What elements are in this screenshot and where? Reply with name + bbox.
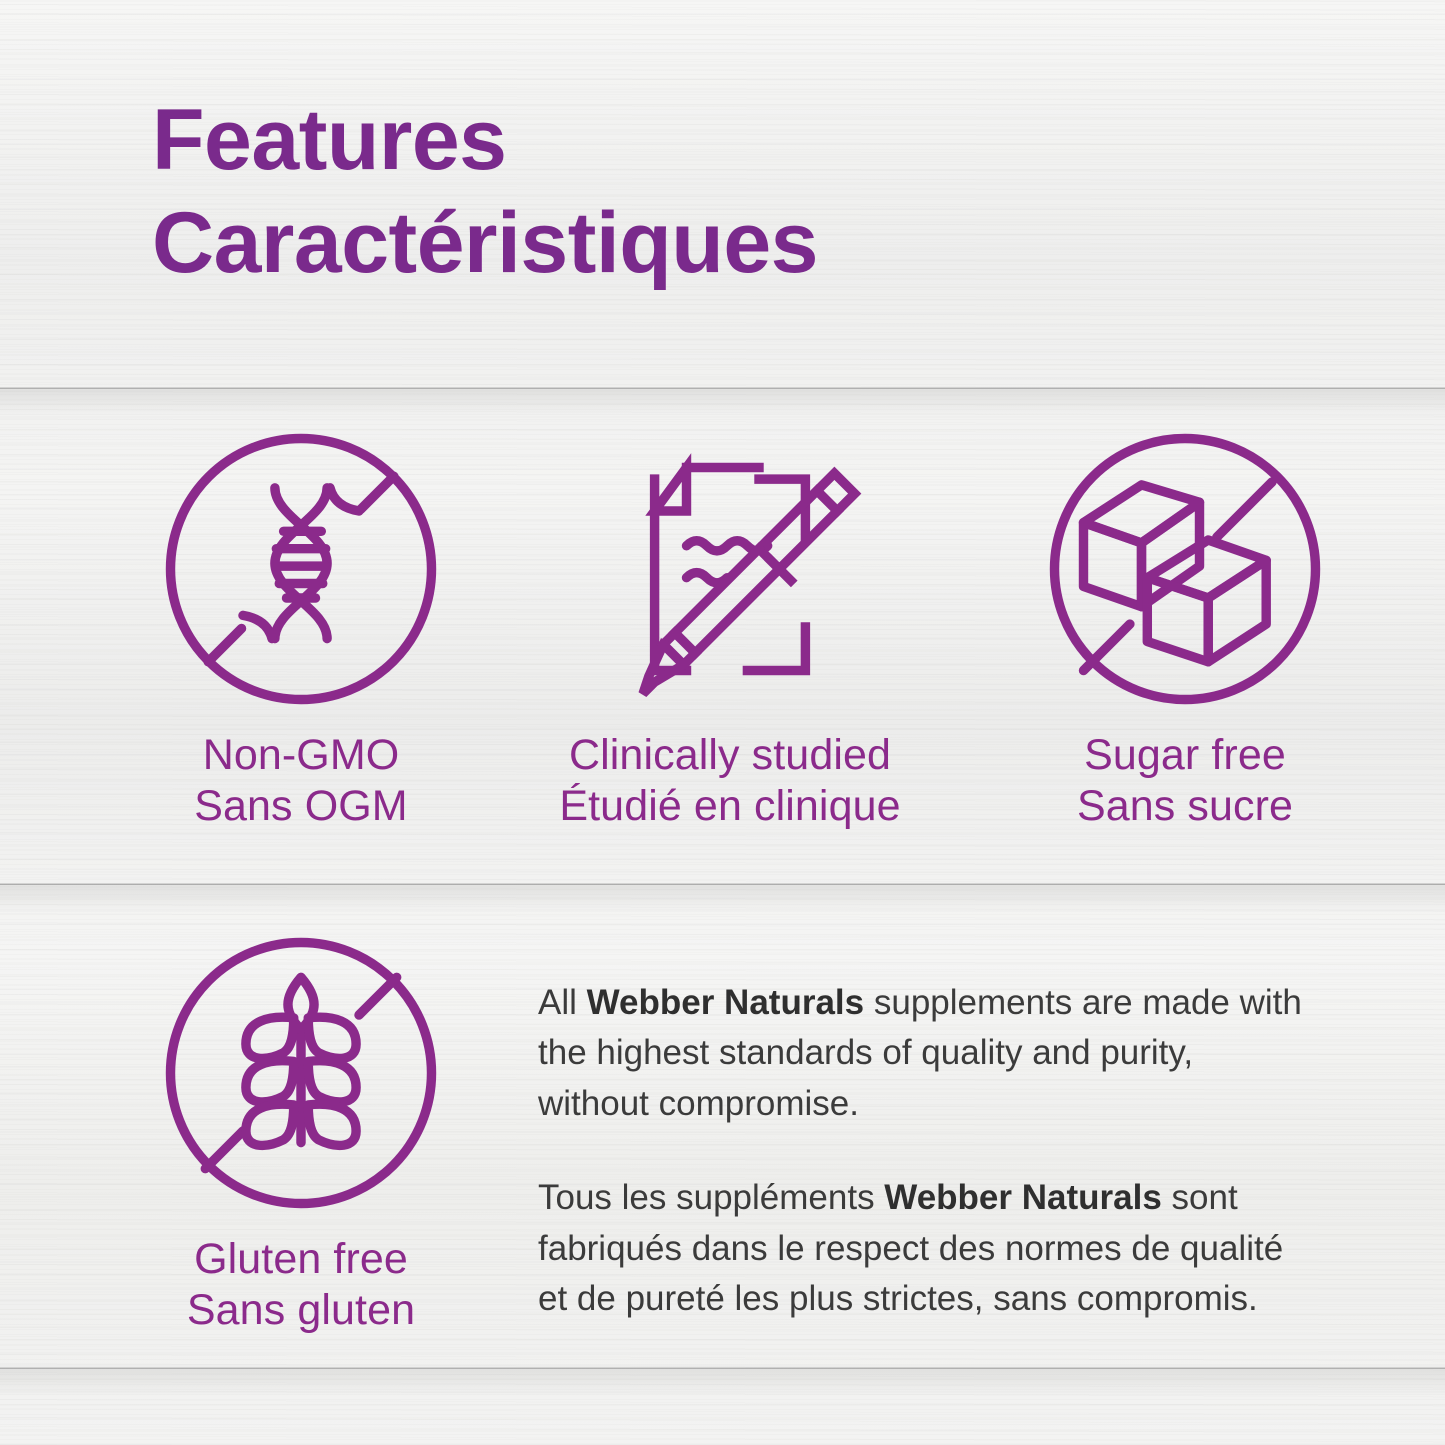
feature-gluten-free-label-fr: Sans gluten [106,1285,496,1336]
feature-clinically-studied-label: Clinically studied Étudié en clinique [485,730,975,831]
plank-shadow-2 [0,886,1445,912]
infographic-canvas: Features Caractéristiques Non-GMO Sans O… [0,0,1445,1445]
brand-statement-en-before: All [538,983,587,1022]
brand-name-fr: Webber Naturals [884,1178,1162,1217]
brand-statement-en: All Webber Naturals supplements are made… [538,978,1310,1129]
feature-sugar-free-label-fr: Sans sucre [985,781,1385,832]
plank-shadow-3 [0,1370,1445,1396]
feature-gluten-free: Gluten free Sans gluten [106,928,496,1335]
page-title: Features Caractéristiques [152,96,818,289]
feature-non-gmo: Non-GMO Sans OGM [106,424,496,831]
page-title-fr: Caractéristiques [152,199,818,288]
feature-clinically-studied: Clinically studied Étudié en clinique [485,424,975,831]
feature-sugar-free: Sugar free Sans sucre [985,424,1385,831]
feature-sugar-free-label: Sugar free Sans sucre [985,730,1385,831]
no-sugar-cubes-icon [1040,424,1330,714]
no-wheat-icon [156,928,446,1218]
page-title-en: Features [152,96,818,185]
feature-sugar-free-label-en: Sugar free [1084,731,1286,779]
brand-statement-fr-before: Tous les suppléments [538,1178,884,1217]
feature-gluten-free-label: Gluten free Sans gluten [106,1234,496,1335]
feature-non-gmo-label-fr: Sans OGM [106,781,496,832]
feature-non-gmo-label: Non-GMO Sans OGM [106,730,496,831]
feature-clinically-studied-label-en: Clinically studied [569,731,891,779]
brand-name-en: Webber Naturals [587,983,865,1022]
feature-non-gmo-label-en: Non-GMO [203,731,400,779]
feature-clinically-studied-label-fr: Étudié en clinique [485,781,975,832]
feature-gluten-free-label-en: Gluten free [194,1235,408,1283]
document-pen-icon [585,424,875,714]
brand-statement-fr: Tous les suppléments Webber Naturals son… [538,1173,1310,1324]
no-dna-icon [156,424,446,714]
plank-shadow-1 [0,390,1445,416]
brand-statement: All Webber Naturals supplements are made… [538,978,1310,1324]
